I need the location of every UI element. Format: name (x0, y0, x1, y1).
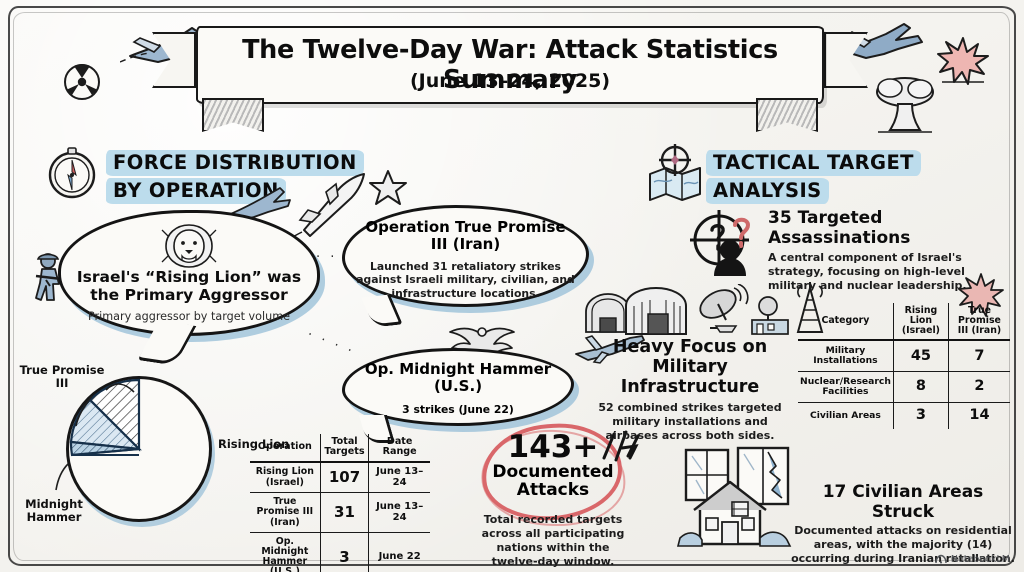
section-heading-tactical-analysis: Tactical Target Analysis (706, 150, 921, 206)
op-line-2: (Iran) (270, 517, 300, 528)
banner-flag-left (152, 32, 196, 88)
midnight-hammer-title: Op. Midnight Hammer (U.S.) (353, 361, 563, 396)
col-category: Category (798, 303, 893, 340)
mushroom-cloud-icon (870, 70, 940, 136)
assassinations-stat: 35 Targeted Assassinations A central com… (768, 208, 1014, 292)
cell-category: Civilian Areas (798, 403, 893, 429)
cell-operation: True Promise III (Iran) (250, 493, 320, 532)
midnight-hammer-body: 3 strikes (June 22) (353, 403, 563, 416)
title-banner: The Twelve-Day War: Attack Statistics Su… (196, 26, 824, 104)
page-subtitle: (June 13–24, 2025) (196, 70, 824, 92)
table-row: Civilian Areas 3 14 (798, 403, 1010, 429)
table-row: Military Installations 45 7 (798, 340, 1010, 371)
military-infra-headline: Heavy Focus on Military Infrastructure (588, 338, 792, 397)
cat-line-2: Facilities (822, 386, 868, 397)
col-line-1: True Promise (958, 305, 1001, 326)
compass-icon (46, 146, 98, 200)
civilian-areas-stat: 17 Civilian Areas Struck Documented atta… (790, 482, 1016, 565)
section-heading-force-distribution: Force Distribution By Operation (106, 150, 364, 206)
cell-true-promise: 7 (948, 340, 1010, 371)
headline-line-2: Military Infrastructure (621, 357, 760, 397)
cell-rising-lion: 8 (893, 372, 948, 403)
true-promise-title: Operation True Promise III (Iran) (355, 219, 576, 254)
cell-total-targets: 31 (320, 493, 369, 532)
assassinations-body: A central component of Israel's strategy… (768, 251, 1014, 292)
table-row: Nuclear/Research Facilities 8 2 (798, 372, 1010, 403)
infographic-canvas: The Twelve-Day War: Attack Statistics Su… (0, 0, 1024, 572)
cell-date-range: June 13–24 (369, 462, 430, 493)
radio-building-icon (748, 292, 796, 336)
headline-line-1: Heavy Focus on (613, 337, 767, 357)
lion-head-icon (160, 222, 218, 270)
radiation-icon (62, 62, 102, 102)
op-line-1: Op. Midnight (261, 536, 308, 557)
heading-line-2: By Operation (106, 178, 286, 204)
col-rising-lion: Rising Lion (Israel) (893, 303, 948, 340)
col-line-2: III (Iran) (958, 325, 1001, 336)
documented-attacks-stat: 143+ Documented Attacks Total recorded t… (474, 432, 632, 568)
assassinations-headline: 35 Targeted Assassinations (768, 208, 1014, 248)
col-total-targets: TotalTargets (320, 434, 369, 462)
lion-bubble-title: Israel's “Rising Lion” was the Primary A… (71, 269, 307, 304)
lion-speech-bubble: Israel's “Rising Lion” was the Primary A… (58, 210, 320, 336)
cell-true-promise: 2 (948, 372, 1010, 403)
big-stat-label-1: Documented (474, 463, 632, 481)
cell-total-targets: 3 (320, 532, 369, 572)
table-header-row: Operation TotalTargets Date Range (250, 434, 430, 462)
bubble-tail (138, 320, 197, 365)
op-line-1: True Promise III (257, 496, 314, 517)
notebooklm-watermark: NotebookLM (935, 554, 1010, 565)
banner-tail-right (756, 98, 818, 132)
cell-category: Military Installations (798, 340, 893, 371)
hangars-icon (580, 286, 690, 336)
lion-bubble-subtitle: Primary aggressor by target volume (69, 310, 309, 323)
cat-line-2: Installations (813, 355, 877, 366)
operations-table: Operation TotalTargets Date Range Rising… (250, 434, 430, 572)
col-line-1: Rising Lion (905, 305, 938, 326)
cell-operation: Rising Lion (Israel) (250, 462, 320, 493)
cell-date-range: June 13–24 (369, 493, 430, 532)
pie-label-true-promise: True Promise III (18, 364, 106, 390)
notebooklm-logo-icon (935, 554, 947, 565)
heading-line-1: Force Distribution (106, 150, 364, 176)
cell-operation: Op. Midnight Hammer (U.S.) (250, 532, 320, 572)
civilian-headline: 17 Civilian Areas Struck (790, 482, 1016, 522)
table-row: Op. Midnight Hammer (U.S.) 3 June 22 (250, 532, 430, 572)
connector-dots-lower: · · · · (305, 327, 357, 360)
military-infra-body: 52 combined strikes targeted military in… (588, 401, 792, 442)
target-person-question-icon (690, 208, 766, 276)
watermark-label: NotebookLM (951, 554, 1010, 565)
cell-true-promise: 14 (948, 403, 1010, 429)
cell-rising-lion: 3 (893, 403, 948, 429)
table-row: Rising Lion (Israel) 107 June 13–24 (250, 462, 430, 493)
true-promise-bubble: Operation True Promise III (Iran) Launch… (342, 205, 589, 307)
military-infrastructure-stat: Heavy Focus on Military Infrastructure 5… (588, 338, 792, 443)
banner-tail-left (202, 98, 264, 132)
big-stat-body: Total recorded targets across all partic… (474, 513, 632, 568)
table-row: True Promise III (Iran) 31 June 13–24 (250, 493, 430, 532)
cell-rising-lion: 45 (893, 340, 948, 371)
col-date-range: Date Range (369, 434, 430, 462)
cell-date-range: June 22 (369, 532, 430, 572)
heading-line-1: Tactical Target (706, 150, 921, 176)
comparison-table: Category Rising Lion (Israel) True Promi… (798, 303, 1010, 429)
big-stat-label-2: Attacks (474, 481, 632, 499)
col-true-promise: True Promise III (Iran) (948, 303, 1010, 340)
banner-flag-right (824, 32, 868, 88)
true-promise-body: Launched 31 retaliatory strikes against … (355, 260, 576, 300)
op-line-2: Hammer (U.S.) (262, 556, 307, 572)
cell-category: Nuclear/Research Facilities (798, 372, 893, 403)
pie-label-midnight-hammer: Midnight Hammer (12, 498, 96, 524)
map-target-icon (646, 144, 704, 202)
cell-total-targets: 107 (320, 462, 369, 493)
op-line-2: (Israel) (266, 477, 304, 488)
satellite-dish-icon (690, 284, 752, 336)
midnight-hammer-bubble: Op. Midnight Hammer (U.S.) 3 strikes (Ju… (342, 348, 574, 426)
col-line-2: (Israel) (902, 325, 940, 336)
heading-line-2: Analysis (706, 178, 829, 204)
explosion-icon-top-right (936, 34, 990, 86)
star-icon (368, 168, 408, 208)
table-header-row: Category Rising Lion (Israel) True Promi… (798, 303, 1010, 340)
col-operation: Operation (250, 434, 320, 462)
